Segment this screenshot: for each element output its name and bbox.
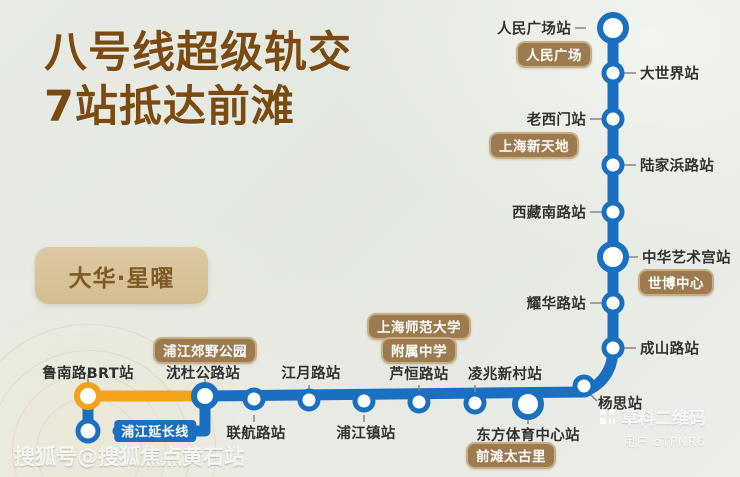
- station-label-luheng-lu: 芦恒路站: [389, 363, 448, 384]
- station-label-yaohua-lu: 耀华路站: [527, 293, 586, 314]
- station-label-renmin-guangchang: 人民广场站: [497, 18, 571, 39]
- station-label-chengshan-lu: 成山路站: [640, 338, 699, 359]
- station-label-laoximen: 老西门站: [527, 109, 586, 130]
- poi-badge-renmin-guangchang: 人民广场: [516, 41, 592, 68]
- qrcode-icon: [600, 409, 616, 425]
- poi-badge-shishida-fuzhong-line2: 附属中学: [381, 337, 457, 364]
- poi-badge-shibo-zhongxin: 世博中心: [638, 269, 714, 296]
- station-label-xizang-nan-lu: 西藏南路站: [512, 202, 586, 223]
- headline: 八号线超级轨交 7站抵达前滩: [44, 30, 352, 131]
- branch-line-tag: 浦江延长线: [114, 420, 196, 442]
- brand-name: 大华·星曜: [69, 259, 175, 293]
- headline-line-2: 7站抵达前滩: [44, 84, 352, 130]
- headline-line-1: 八号线超级轨交: [44, 30, 352, 76]
- infographic-root: 八号线超级轨交 7站抵达前滩 大华·星曜: [0, 0, 740, 477]
- sohu-watermark: 搜狐号@搜狐焦点黄石站: [14, 441, 245, 471]
- station-label-lujiabang-lu: 陆家浜路站: [640, 155, 714, 176]
- station-label-zhonghua-yishugong: 中华艺术宫站: [642, 247, 731, 268]
- poi-badge-pujiang-jiaoye-gongyuan: 浦江郊野公园: [153, 337, 257, 364]
- qr-watermark: 草料二维码 用户 oTPNR6: [600, 404, 706, 450]
- station-label-shendu-gonglu: 沈杜公路站: [166, 362, 240, 383]
- station-label-jiangyue-lu: 江月路站: [281, 362, 340, 383]
- qr-watermark-title: 草料二维码: [621, 404, 706, 429]
- poi-badge-shishida-fuzhong-line1: 上海师范大学: [367, 313, 471, 340]
- poi-badge-xintiandi: 上海新天地: [489, 132, 579, 159]
- station-label-pujiang-zhen: 浦江镇站: [336, 422, 395, 443]
- station-label-lianhang-lu: 联航路站: [226, 422, 285, 443]
- station-label-lunan-lu-brt: 鲁南路BRT站: [42, 362, 134, 383]
- station-label-dashijie: 大世界站: [640, 63, 699, 84]
- station-label-lingzhao-xincun: 凌兆新村站: [468, 363, 542, 384]
- brand-badge: 大华·星曜: [35, 247, 208, 304]
- qr-watermark-title-row: 草料二维码: [600, 404, 706, 429]
- poi-badge-qiantan-taikooli: 前滩太古里: [466, 442, 556, 469]
- qr-watermark-user: 用户 oTPNR6: [623, 431, 706, 450]
